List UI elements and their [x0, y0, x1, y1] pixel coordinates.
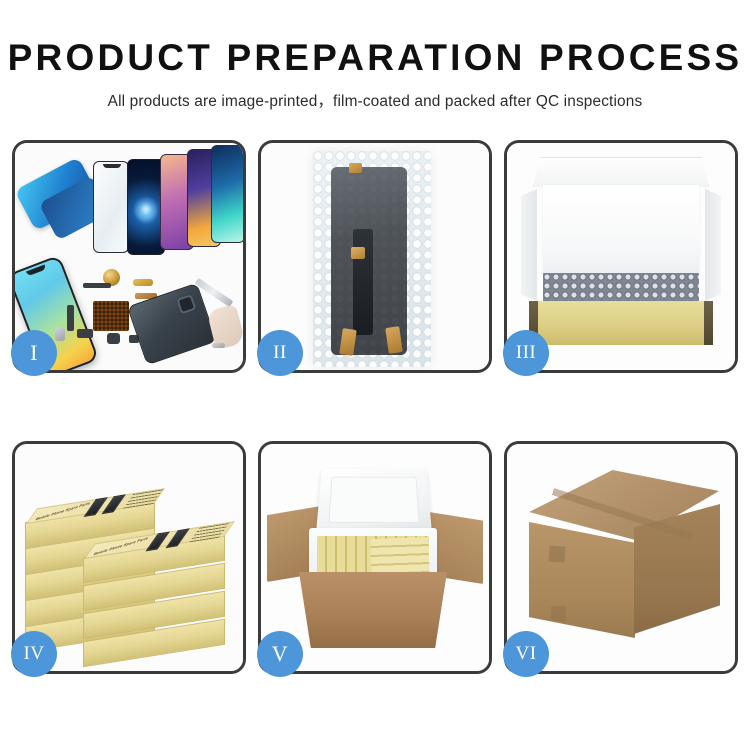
taptic-part — [107, 333, 120, 344]
step-panel-6: VI — [504, 441, 738, 674]
retail-box-top: Mobile Phone Spare Parts — [26, 488, 165, 524]
box-label-text: Mobile Phone Spare Parts — [35, 501, 92, 522]
inner-box-base — [529, 301, 713, 345]
tape-piece-middle — [351, 247, 365, 259]
step-panel-2: II — [258, 140, 492, 373]
screw-set-part — [212, 343, 225, 348]
page-subtitle: All products are image-printed，film-coat… — [0, 89, 750, 111]
carton-body — [299, 572, 447, 648]
tape-piece-top — [349, 163, 362, 173]
box-screen-image — [145, 531, 170, 551]
process-steps-grid: I II — [12, 140, 738, 674]
step-badge-2: II — [257, 330, 303, 376]
foam-box-lid — [316, 469, 432, 533]
box-screen-image — [83, 497, 108, 517]
camera-module-part — [55, 327, 65, 341]
step-badge-1: I — [11, 330, 57, 376]
foam-sheet — [543, 185, 699, 275]
carton-tape-patch — [550, 605, 566, 621]
front-glass-panel — [93, 161, 129, 253]
phone-teal-gradient — [211, 145, 243, 243]
box-spec-lines — [122, 489, 163, 509]
connector-part — [133, 279, 153, 286]
step-badge-5: V — [257, 631, 303, 677]
step-panel-5: V — [258, 441, 492, 674]
carton-tape-patch — [548, 545, 565, 562]
wrapped-screen-flex — [353, 229, 373, 335]
box-lid-flap — [533, 157, 709, 187]
bubble-wrap-layer — [543, 273, 699, 303]
page-title: PRODUCT PREPARATION PROCESS — [0, 36, 750, 80]
step-badge-4: IV — [11, 631, 57, 677]
packed-retail-boxes — [370, 537, 429, 577]
product-preparation-infographic: PRODUCT PREPARATION PROCESS All products… — [0, 0, 750, 750]
step-badge-3: III — [503, 330, 549, 376]
header: PRODUCT PREPARATION PROCESS All products… — [0, 0, 750, 111]
step-panel-4: Mobile Phone Spare Parts Mobile Phone — [12, 441, 246, 674]
flex-cable-part — [83, 283, 111, 288]
box-side-flap-left — [521, 189, 537, 301]
shield-mesh-part — [93, 301, 129, 331]
box-side-flap-right — [705, 189, 721, 301]
bubble-wrap-bag — [313, 151, 431, 367]
box-spec-lines — [188, 523, 229, 543]
step-panel-3: III — [504, 140, 738, 373]
side-flex-part — [67, 305, 74, 331]
shipping-carton-front — [529, 522, 635, 638]
box-stack: Mobile Phone Spare Parts Mobile Phone — [21, 460, 237, 660]
speaker-part — [77, 329, 93, 338]
step-badge-6: VI — [503, 631, 549, 677]
step-panel-1: I — [12, 140, 246, 373]
